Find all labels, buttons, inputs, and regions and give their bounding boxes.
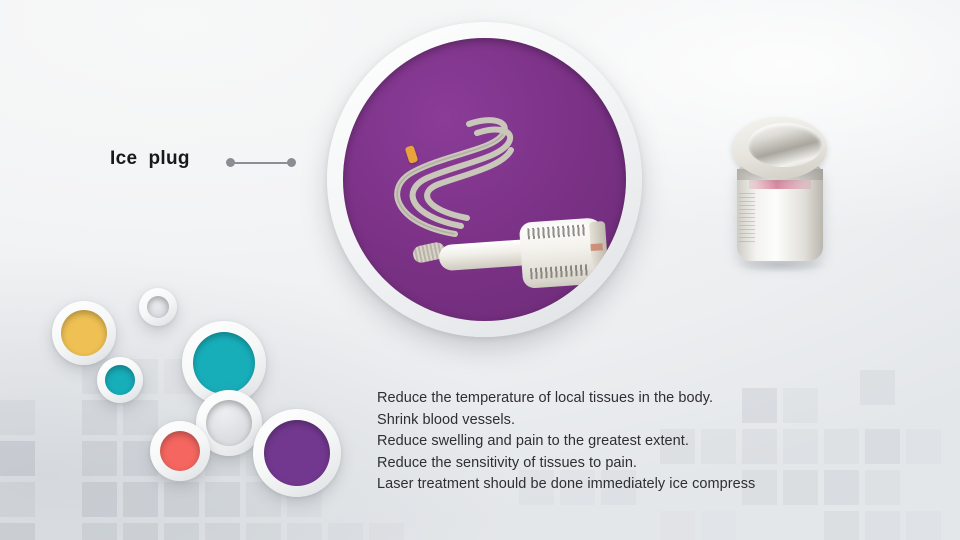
circle-coral	[150, 421, 210, 481]
mosaic-tile	[860, 370, 895, 405]
circle-purple	[253, 409, 341, 497]
mosaic-tile	[906, 429, 941, 464]
mosaic-tile	[824, 429, 859, 464]
body-text-block: Reduce the temperature of local tissues …	[377, 388, 755, 496]
mosaic-tile	[246, 523, 281, 540]
mosaic-tile	[205, 523, 240, 540]
mosaic-tile	[0, 400, 35, 435]
title-connector	[226, 158, 296, 168]
connector-dot-right-icon	[287, 158, 296, 167]
mosaic-tile	[287, 523, 322, 540]
mosaic-tile	[246, 441, 281, 476]
mosaic-tile	[783, 388, 818, 423]
mosaic-tile	[123, 441, 158, 476]
mosaic-tile	[205, 441, 240, 476]
mosaic-tile	[82, 523, 117, 540]
mosaic-tile	[0, 523, 35, 540]
circle-purple-fill	[264, 420, 330, 486]
hero-circle-frame	[327, 22, 642, 337]
product-grill	[739, 193, 755, 245]
body-text-line: Reduce the sensitivity of tissues to pai…	[377, 453, 755, 475]
mosaic-tile	[164, 482, 199, 517]
mosaic-tile	[123, 482, 158, 517]
circle-teal-small	[97, 357, 143, 403]
mosaic-tile	[824, 511, 859, 540]
mosaic-tile	[123, 523, 158, 540]
mosaic-tile	[164, 359, 199, 394]
product-chrome-disc	[748, 123, 822, 167]
circle-yellow	[52, 301, 116, 365]
handpiece-head	[519, 217, 607, 289]
mosaic-tile	[82, 441, 117, 476]
mosaic-tile	[164, 441, 199, 476]
mosaic-tile	[205, 482, 240, 517]
handpiece-device	[439, 214, 619, 294]
circle-teal-large-fill	[193, 332, 255, 394]
mosaic-tile	[82, 482, 117, 517]
circle-yellow-fill	[61, 310, 107, 356]
handpiece-indicator-band	[590, 243, 602, 251]
connector-line	[231, 162, 291, 164]
product-top-housing	[732, 117, 827, 179]
mosaic-tile	[906, 511, 941, 540]
circle-teal-large	[182, 321, 266, 405]
mosaic-tile	[123, 359, 158, 394]
circle-ring-small-fill	[147, 296, 169, 318]
handpiece-vents-top	[527, 224, 586, 239]
body-text-line: Reduce the temperature of local tissues …	[377, 388, 755, 410]
mosaic-tile	[0, 441, 35, 476]
circle-ring-large	[196, 390, 262, 456]
mosaic-tile	[82, 359, 117, 394]
circle-coral-fill	[160, 431, 200, 471]
mosaic-tile	[865, 429, 900, 464]
mosaic-tile	[369, 523, 404, 540]
cable-tie-icon	[405, 145, 419, 164]
mosaic-tile	[123, 400, 158, 435]
product-pink-band	[749, 180, 811, 189]
body-text-line: Laser treatment should be done immediate…	[377, 474, 755, 496]
slide-canvas: Ice plug	[0, 0, 960, 540]
circle-ring-large-fill	[206, 400, 252, 446]
hero-circle-photo	[343, 38, 626, 321]
mosaic-tile	[287, 482, 322, 517]
mosaic-tile	[865, 511, 900, 540]
page-title: Ice plug	[110, 148, 190, 170]
mosaic-tile	[328, 523, 363, 540]
mosaic-tile	[783, 470, 818, 505]
mosaic-tile	[660, 511, 695, 540]
mosaic-tile	[701, 511, 736, 540]
mosaic-tile	[783, 429, 818, 464]
circle-ring-small	[139, 288, 177, 326]
mosaic-tile	[824, 470, 859, 505]
body-text-line: Shrink blood vessels.	[377, 410, 755, 432]
mosaic-tile	[0, 482, 35, 517]
mosaic-tile	[246, 482, 281, 517]
mosaic-tile	[164, 523, 199, 540]
mosaic-tile	[82, 400, 117, 435]
mosaic-tile	[205, 400, 240, 435]
body-text-line: Reduce swelling and pain to the greatest…	[377, 431, 755, 453]
product-photo	[727, 117, 832, 277]
circle-teal-small-fill	[105, 365, 135, 395]
mosaic-tile	[865, 470, 900, 505]
handpiece-vents-bottom	[530, 264, 589, 279]
